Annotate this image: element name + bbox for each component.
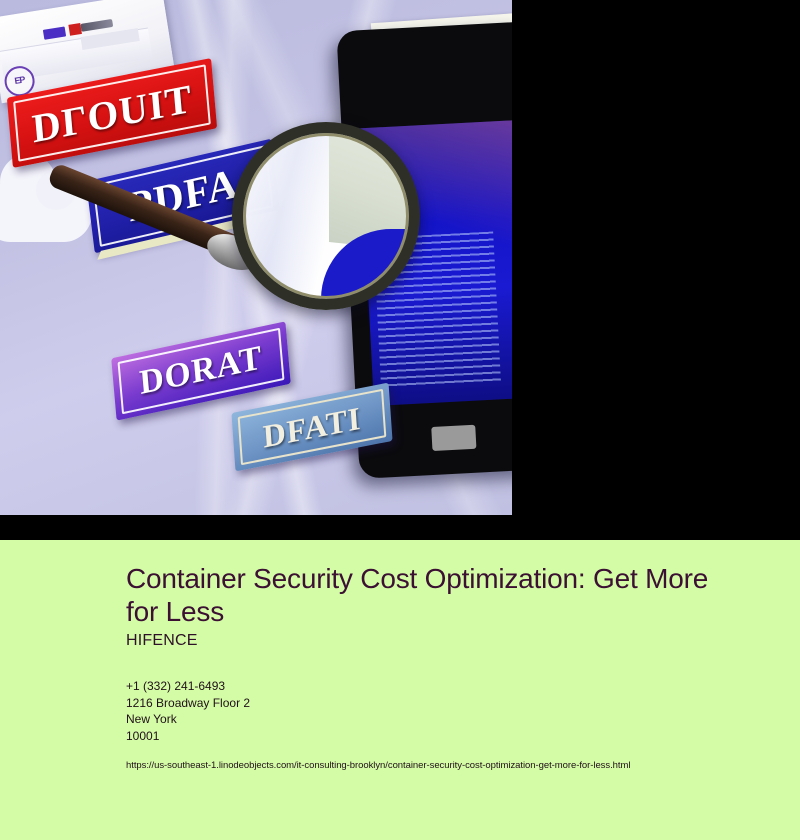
plaque-text: DFATI [262,399,363,455]
envelope-barcode [80,19,113,32]
company-name: HIFENCE [126,632,198,650]
page-url[interactable]: https://us-southeast-1.linodeobjects.com… [126,760,630,771]
magnifier-ring [232,122,420,310]
page-title: Container Security Cost Optimization: Ge… [126,562,746,628]
contact-phone: +1 (332) 241-6493 [126,678,250,695]
magnifying-glass-icon [232,122,420,310]
article-panel: Container Security Cost Optimization: Ge… [0,540,800,840]
contact-address: 1216 Broadway Floor 2 [126,695,250,712]
envelope-stamp-blue [43,26,66,39]
hero-banner: EP DГOUIT PDFA [0,0,800,540]
page-root: EP DГOUIT PDFA [0,0,800,840]
contact-block: +1 (332) 241-6493 1216 Broadway Floor 2 … [126,678,250,744]
tablet-home-button [431,425,476,451]
contact-city: New York [126,711,250,728]
hero-illustration: EP DГOUIT PDFA [0,0,512,515]
contact-postal-code: 10001 [126,728,250,745]
